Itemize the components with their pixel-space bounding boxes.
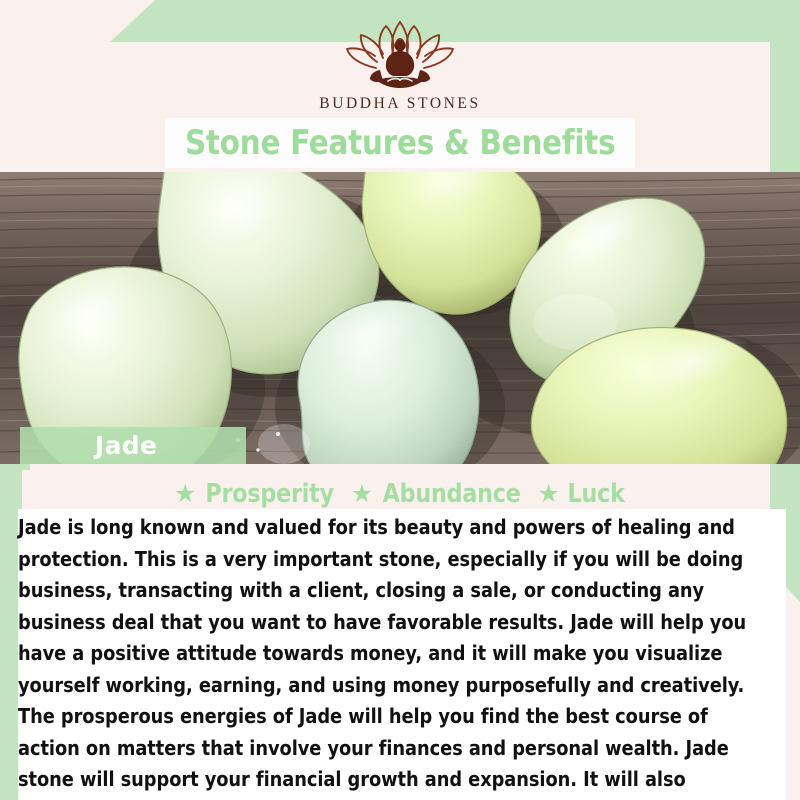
description-block: Jade is long known and valued for its be… [18, 509, 786, 800]
star-icon: ★ [537, 482, 559, 507]
keyword-label: Luck [567, 479, 624, 509]
lotus-meditation-icon [336, 18, 464, 90]
brand-logo: BUDDHA STONES [0, 18, 800, 113]
keyword-item-luck: ★ Luck [537, 479, 626, 509]
brand-wordmark: BUDDHA STONES [319, 95, 480, 113]
keyword-label: Abundance [383, 479, 521, 509]
description-text: Jade is long known and valued for its be… [18, 512, 763, 800]
infographic-card: BUDDHA STONES [0, 0, 800, 800]
keyword-item-prosperity: ★ Prosperity [174, 479, 338, 509]
page-title: Stone Features & Benefits [185, 123, 615, 163]
stone-photo-illustration [0, 172, 800, 464]
star-icon: ★ [351, 482, 373, 507]
keyword-item-abundance: ★ Abundance [351, 479, 525, 509]
keyword-label: Prosperity [206, 479, 335, 509]
star-icon: ★ [174, 482, 196, 507]
section-title-banner: Stone Features & Benefits [165, 118, 635, 168]
stone-name-label: Jade [20, 427, 246, 464]
stone-name-text: Jade [95, 431, 157, 460]
stone-photo [0, 172, 800, 464]
keyword-list: ★ Prosperity ★ Abundance ★ Luck [0, 478, 800, 510]
